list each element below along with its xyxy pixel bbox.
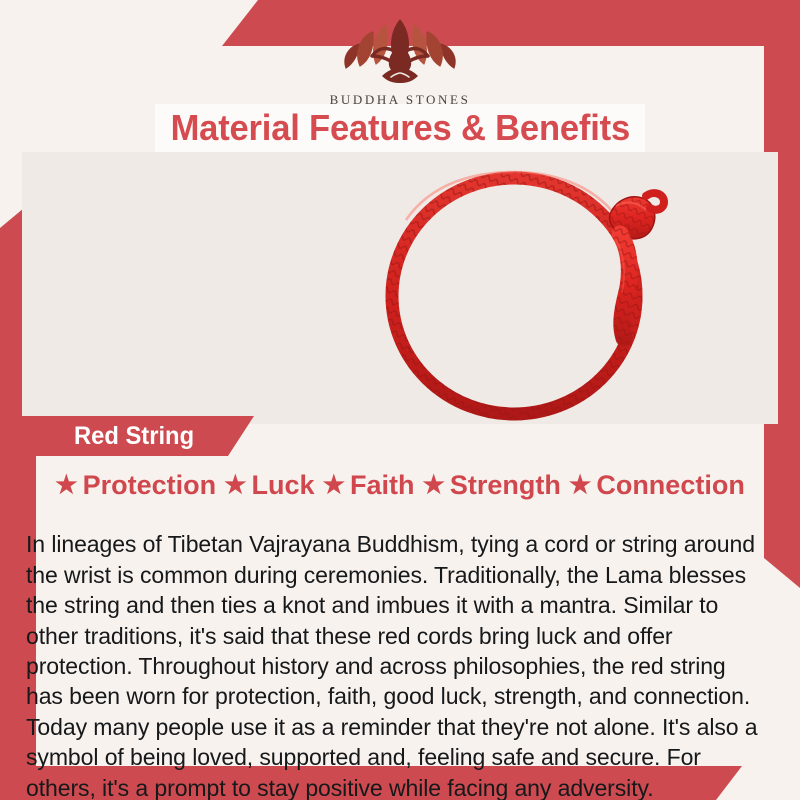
benefit-label: Protection xyxy=(83,470,217,501)
infographic-page: BUDDHA STONES Material Features & Benefi… xyxy=(0,0,800,800)
benefit-label: Connection xyxy=(596,470,745,501)
star-icon: ★ xyxy=(422,473,444,498)
star-icon: ★ xyxy=(55,473,77,498)
product-photo xyxy=(22,152,778,424)
section-ribbon-red-string: Red String xyxy=(22,416,254,456)
page-title: Material Features & Benefits xyxy=(170,107,629,149)
star-icon: ★ xyxy=(224,473,246,498)
benefit-item: ★ Faith xyxy=(319,470,419,501)
star-icon: ★ xyxy=(569,473,591,498)
benefit-label: Faith xyxy=(350,470,415,501)
benefit-item: ★ Luck xyxy=(220,470,318,501)
star-icon: ★ xyxy=(323,473,345,498)
red-string-bracelet-image xyxy=(354,160,694,422)
benefits-list: ★ Protection ★ Luck ★ Faith ★ Strength ★… xyxy=(22,466,778,504)
brand-header: BUDDHA STONES xyxy=(0,16,800,108)
benefit-item: ★ Connection xyxy=(565,470,749,501)
benefit-item: ★ Strength xyxy=(418,470,564,501)
lotus-meditation-icon xyxy=(334,16,466,90)
description-paragraph: In lineages of Tibetan Vajrayana Buddhis… xyxy=(26,529,763,800)
section-title: Red String xyxy=(74,422,194,451)
title-band: Material Features & Benefits xyxy=(155,104,645,152)
benefit-label: Strength xyxy=(450,470,561,501)
benefit-item: ★ Protection xyxy=(51,470,220,501)
benefit-label: Luck xyxy=(252,470,315,501)
